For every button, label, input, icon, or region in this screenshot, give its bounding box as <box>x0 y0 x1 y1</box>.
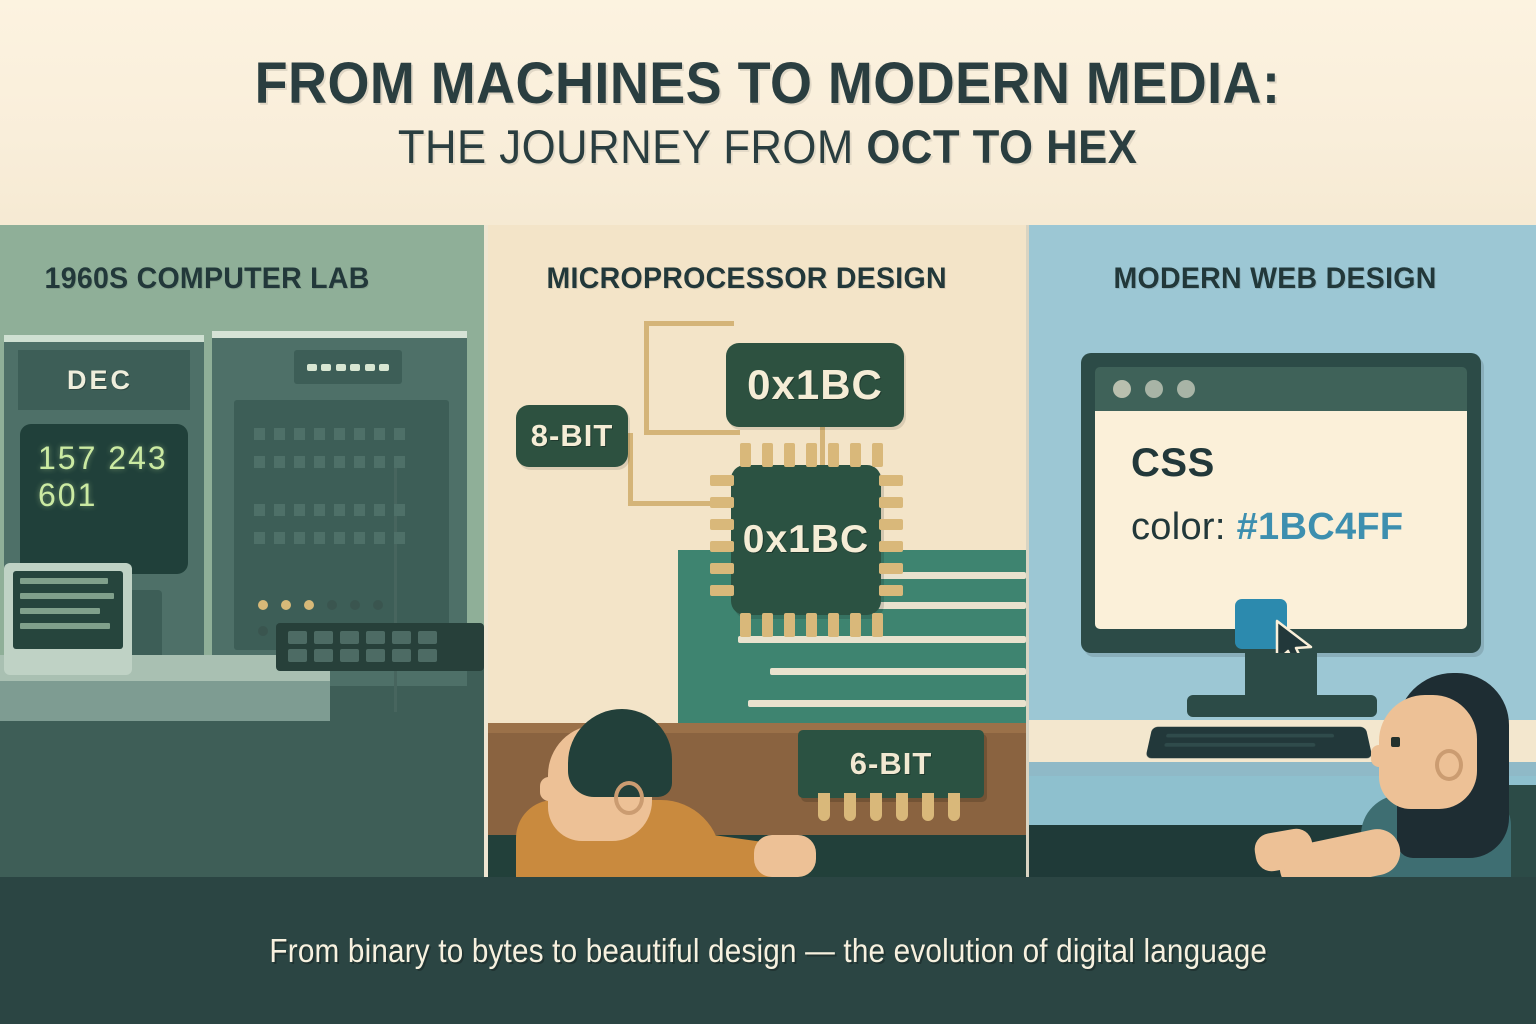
lamp-icon <box>307 364 317 371</box>
panel-strip: DEC 157 243 601 <box>0 225 1536 877</box>
lamp-icon <box>336 364 346 371</box>
desk-chip-6-bit: 6-BIT <box>798 730 984 798</box>
switch-row <box>254 532 405 544</box>
crt-line-1: 157 243 <box>38 440 188 477</box>
monitor-stand-base <box>1187 695 1377 717</box>
computer-keyboard[interactable] <box>1145 727 1372 759</box>
indicator-lamp-row <box>294 350 402 384</box>
monitor-stand-neck <box>1245 653 1317 701</box>
infographic-poster: FROM MACHINES TO MODERN MEDIA: THE JOURN… <box>0 0 1536 1024</box>
lamp-icon <box>379 364 389 371</box>
panel-modern-web-design: CSS color: #1BC4FF <box>1029 225 1536 877</box>
connector-wire <box>820 427 825 467</box>
operator-terminal-screen <box>13 571 123 649</box>
cabinet-faceplate: DEC <box>18 350 190 410</box>
designer-eye <box>1391 737 1400 747</box>
rack-switch-panel <box>234 400 449 650</box>
poster-subtitle-prefix: THE JOURNEY FROM <box>398 120 867 173</box>
cpu-hex-label: 0x1BC <box>743 518 869 562</box>
designer-head <box>1379 695 1477 809</box>
css-declaration: color: #1BC4FF <box>1131 506 1467 549</box>
panel-1960s-computer-lab: DEC 157 243 601 <box>0 225 484 877</box>
poster-header: FROM MACHINES TO MODERN MEDIA: THE JOURN… <box>0 0 1536 225</box>
css-language-label: CSS <box>1131 441 1467 486</box>
engineer-hand <box>754 835 816 877</box>
mainframe-crt-display: 157 243 601 <box>20 424 188 574</box>
dec-brand-plate: DEC <box>62 350 138 410</box>
close-icon[interactable] <box>1113 380 1131 398</box>
switch-row <box>254 428 405 440</box>
connector-wire <box>644 321 649 433</box>
dec-brand-label: DEC <box>67 365 133 396</box>
browser-title-bar[interactable] <box>1095 367 1467 411</box>
poster-title-line-1: FROM MACHINES TO MODERN MEDIA: <box>255 55 1281 113</box>
badge-hex-value: 0x1BC <box>726 343 904 427</box>
connector-wire <box>628 433 633 505</box>
maximize-icon[interactable] <box>1177 380 1195 398</box>
poster-footer: From binary to bytes to beautiful design… <box>0 877 1536 1024</box>
panel-heading-microprocessor-design: MICROPROCESSOR DESIGN <box>547 262 947 296</box>
badge-8-bit: 8-BIT <box>516 405 628 467</box>
designer-ear <box>1435 749 1463 781</box>
operator-terminal-monitor <box>4 563 132 675</box>
crt-line-2: 601 <box>38 477 188 514</box>
lamp-icon <box>350 364 360 371</box>
cpu-chip: 0x1BC <box>731 465 881 615</box>
switch-row <box>254 456 405 468</box>
badge-8-bit-label: 8-BIT <box>531 418 614 454</box>
connector-wire <box>644 321 734 326</box>
poster-title-line-2: THE JOURNEY FROM OCT TO HEX <box>398 123 1138 170</box>
status-dot-row <box>258 600 383 610</box>
css-hex-value: #1BC4FF <box>1237 506 1404 548</box>
lab-desk-front <box>0 681 330 721</box>
minimize-icon[interactable] <box>1145 380 1163 398</box>
engineer-nose <box>540 777 562 801</box>
switch-row <box>254 504 405 516</box>
desk-chip-label: 6-BIT <box>850 746 933 782</box>
monitor-browser-window[interactable]: CSS color: #1BC4FF <box>1081 353 1481 653</box>
connector-wire <box>644 430 740 435</box>
rack-divider <box>394 462 397 712</box>
badge-hex-label: 0x1BC <box>747 361 883 409</box>
panel-heading-modern-web-design: MODERN WEB DESIGN <box>1114 262 1437 296</box>
css-property-name: color: <box>1131 506 1237 548</box>
poster-subtitle-emphasis: OCT TO HEX <box>867 120 1138 173</box>
panel-microprocessor-design: 8-BIT 0x1BC 0x1BC <box>484 225 1029 877</box>
panel-heading-1960s-lab: 1960s COMPUTER LAB <box>45 262 370 296</box>
designer-nose <box>1371 745 1391 767</box>
footer-caption: From binary to bytes to beautiful design… <box>269 932 1267 970</box>
engineer-ear <box>614 781 644 815</box>
lamp-icon <box>321 364 331 371</box>
operator-console-keyboard <box>276 623 484 671</box>
lamp-icon <box>365 364 375 371</box>
browser-content-area: CSS color: #1BC4FF <box>1095 411 1467 629</box>
